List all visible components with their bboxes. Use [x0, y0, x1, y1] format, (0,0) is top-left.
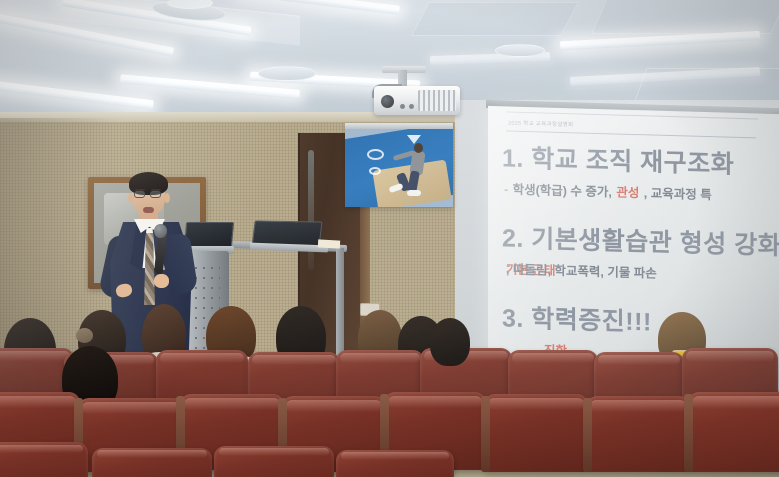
presenter-glasses	[150, 191, 161, 198]
seat-armrest	[684, 394, 693, 472]
ceiling-vent	[258, 66, 316, 81]
auditorium-seat	[484, 394, 588, 472]
projector-vent	[418, 90, 456, 111]
auditorium-seat	[92, 448, 212, 477]
wall-poster	[345, 123, 453, 207]
audience-hair-bun	[76, 328, 93, 343]
photo-scene: 2025 학교 교육과정설명회 1. 학교 조직 재구조화 - 학생(학급) 수…	[0, 0, 779, 477]
audience-member	[430, 318, 470, 366]
auditorium-seat	[0, 442, 88, 477]
seat-armrest	[481, 396, 490, 472]
slide-rule-top	[506, 111, 758, 119]
poster-ring-icon	[369, 167, 381, 175]
slide-heading-1: 1. 학교 조직 재구조화	[502, 138, 734, 180]
ceiling-tile	[411, 2, 579, 36]
seat-armrest	[583, 398, 592, 472]
presenter-hand	[154, 274, 169, 288]
projector	[374, 86, 460, 115]
poster-ring-icon	[367, 149, 384, 160]
ceiling-vent	[495, 44, 545, 57]
auditorium-seat	[336, 450, 454, 477]
poster-figure-shoe	[407, 190, 421, 196]
presenter-ear	[164, 193, 170, 203]
auditorium-seat	[586, 396, 690, 472]
presenter-mouth	[143, 207, 154, 213]
door-glass-reflection	[308, 150, 314, 270]
poster-top-rail	[345, 123, 453, 129]
slide-sub-1a: 학생(학급) 수 증가,	[513, 183, 612, 200]
microphone-head-icon	[154, 224, 167, 238]
projector-lens-icon	[381, 95, 394, 108]
slide-sub-1c: , 교육과정 특	[644, 186, 712, 202]
audience-hair	[430, 318, 470, 366]
paper-sheet	[318, 239, 340, 248]
ceiling-tile	[591, 0, 779, 34]
slide-sub-2b: , 따돌림, 학교폭력, 기물 파손	[506, 258, 657, 281]
poster-figure-head	[414, 143, 423, 153]
presenter-glasses	[134, 191, 145, 198]
slide-sub-1b-accent: 관성	[616, 186, 639, 201]
slide-dash: -	[504, 182, 508, 196]
projector-led-icon	[400, 104, 405, 109]
slide-heading-3: 3. 학력증진!!!	[502, 298, 652, 338]
slide-rule	[506, 130, 756, 138]
slide-header-text: 2025 학교 교육과정설명회	[508, 118, 573, 128]
auditorium-seat	[688, 392, 779, 472]
auditorium-seat	[214, 446, 334, 477]
projector-led-icon	[409, 104, 414, 109]
slide-heading-2: 2. 기본생활습관 형성 강화	[502, 218, 779, 262]
projection-screen: 2025 학교 교육과정설명회 1. 학교 조직 재구조화 - 학생(학급) 수…	[488, 106, 779, 364]
